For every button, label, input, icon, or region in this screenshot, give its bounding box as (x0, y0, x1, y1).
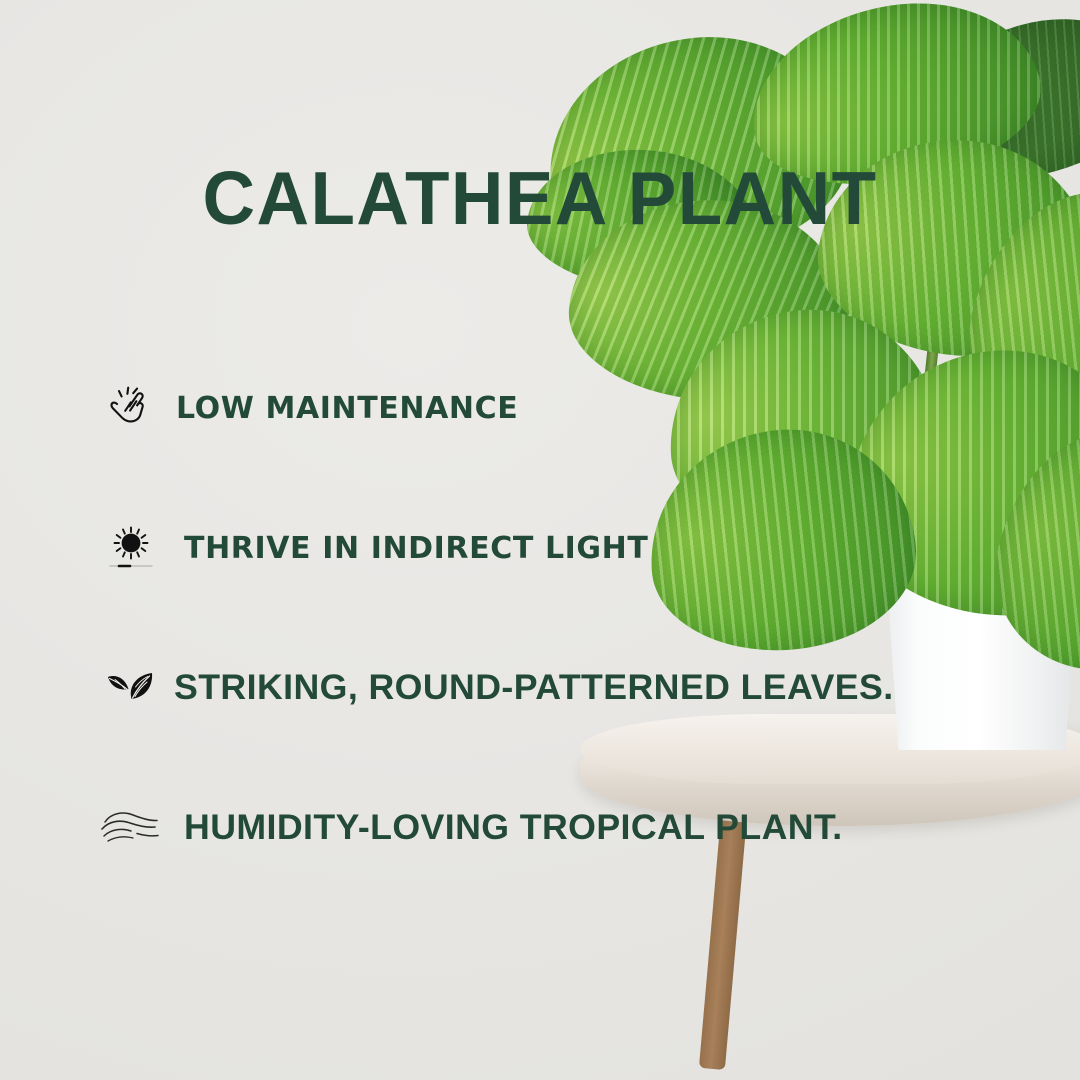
feature-list: LOW MAINTENANCE (100, 372, 860, 932)
feature-label: THRIVE IN INDIRECT LIGHT (184, 531, 648, 566)
poster-canvas: CALATHEA PLANT LOW MAINTENANCE (0, 0, 1080, 1080)
feature-row-humidity: HUMIDITY-LOVING TROPICAL PLANT. (100, 792, 860, 864)
feature-row-indirect-light: THRIVE IN INDIRECT LIGHT (100, 512, 860, 584)
wavy-air-lines-icon (100, 797, 162, 859)
feature-label: HUMIDITY-LOVING TROPICAL PLANT. (184, 808, 843, 848)
feature-label: LOW MAINTENANCE (176, 391, 518, 426)
feature-label: STRIKING, ROUND-PATTERNED LEAVES. (174, 668, 894, 708)
feature-row-low-maintenance: LOW MAINTENANCE (100, 372, 860, 444)
two-leaves-icon (100, 657, 162, 719)
snapping-fingers-icon (100, 377, 162, 439)
feature-row-round-leaves: STRIKING, ROUND-PATTERNED LEAVES. (100, 652, 860, 724)
sun-icon (100, 517, 162, 579)
page-title: CALATHEA PLANT (16, 158, 1064, 238)
